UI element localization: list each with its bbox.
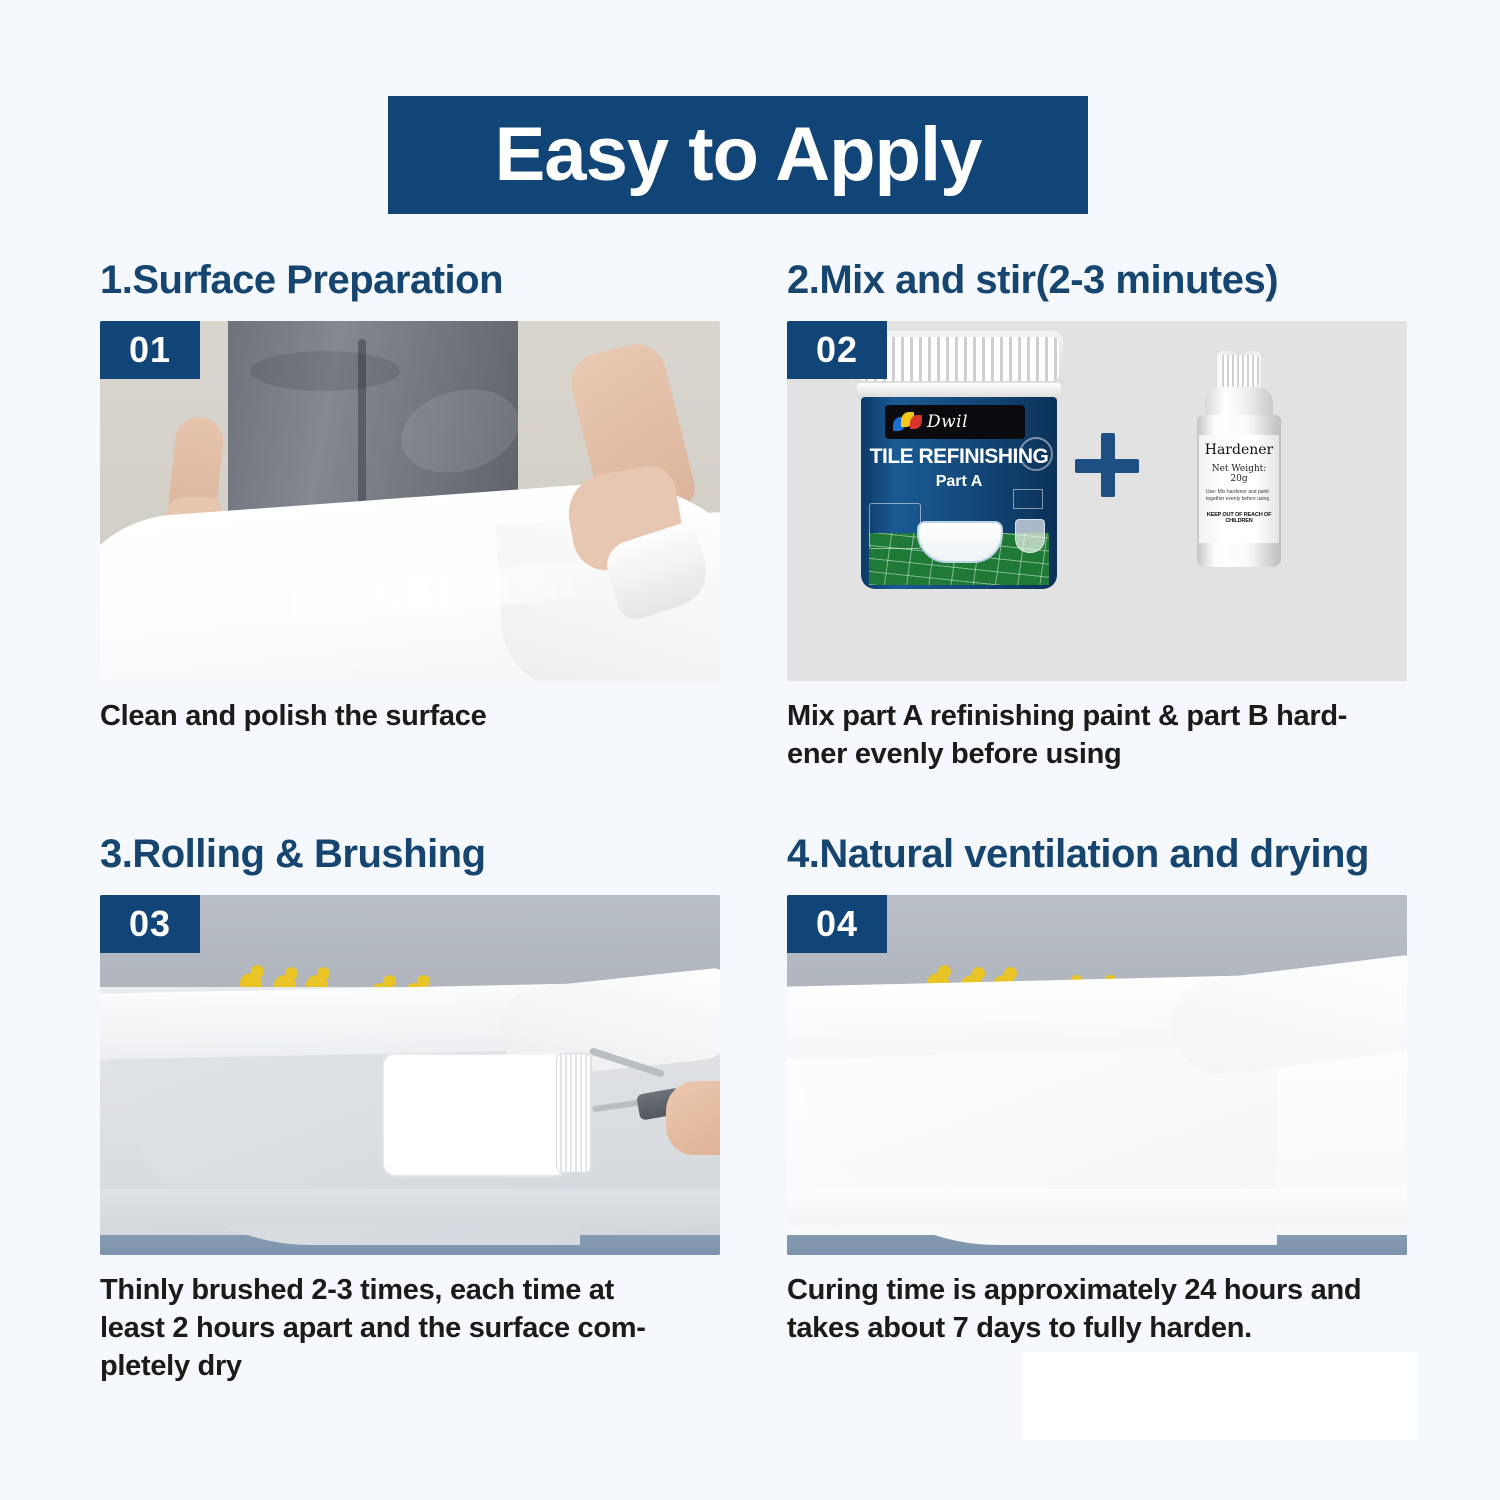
step-badge-1: 01 [100, 321, 200, 379]
caption-line: least 2 hours apart and the surface com- [100, 1309, 700, 1347]
step-card-1: 1.Surface Preparation 01 [100, 258, 755, 774]
step-card-3: 3.Rolling & Brushing [100, 832, 755, 1386]
fabric-crease-shape [250, 351, 400, 391]
page-title: Easy to Apply [495, 117, 982, 193]
step-caption-3: Thinly brushed 2-3 times, each time at l… [100, 1271, 700, 1386]
step-heading-4: 4.Natural ventilation and drying [787, 832, 1442, 877]
step-photo-3: 03 [100, 895, 720, 1255]
hand-shape [666, 1081, 720, 1155]
steps-row-1: 1.Surface Preparation 01 [0, 258, 1500, 774]
hardener-bottle: Hardener Net Weight: 20g Use: Mix harden… [1179, 351, 1299, 571]
jar-product-part: Part A [861, 473, 1057, 491]
jar-body-shape: Dwil TILE REFINISHING Part A [861, 397, 1057, 589]
caption-line: Curing time is approximately 24 hours an… [787, 1271, 1387, 1309]
bottle-label: Hardener Net Weight: 20g Use: Mix harden… [1199, 435, 1279, 543]
step-card-4: 4.Natural ventilation and drying 04 [787, 832, 1442, 1386]
step-photo-2: Dwil TILE REFINISHING Part A [787, 321, 1407, 681]
step-photo-4: 04 [787, 895, 1407, 1255]
jar-toilet-illustration [1015, 519, 1045, 553]
step-heading-2: 2.Mix and stir(2-3 minutes) [787, 258, 1442, 303]
bottle-label-weight: Net Weight: 20g [1204, 464, 1274, 484]
paint-roller-shape [556, 1053, 592, 1173]
title-banner: Easy to Apply [388, 96, 1088, 214]
step-badge-4: 04 [787, 895, 887, 953]
bathtub-skirt-shape [787, 1189, 1407, 1225]
step-caption-4: Curing time is approximately 24 hours an… [787, 1271, 1387, 1348]
blank-white-block [1022, 1352, 1418, 1440]
jar-vanity-illustration [869, 503, 921, 549]
caption-line: ener evenly before using [787, 735, 1387, 773]
caption-line: Mix part A refinishing paint & part B ha… [787, 697, 1387, 735]
caption-line: pletely dry [100, 1347, 700, 1385]
caption-line: Clean and polish the surface [100, 697, 700, 735]
jar-lid-ribs-shape [859, 337, 1059, 381]
steps-row-2: 3.Rolling & Brushing [0, 832, 1500, 1386]
step-photo-1: 01 [100, 321, 720, 681]
brand-name: Dwil [927, 412, 968, 432]
bottle-label-warning: KEEP OUT OF REACH OF CHILDREN [1204, 512, 1274, 524]
steps-grid: 1.Surface Preparation 01 [0, 258, 1500, 1385]
infographic-page: Easy to Apply 1.Surface Preparation [0, 0, 1500, 1500]
caption-line: takes about 7 days to fully harden. [787, 1309, 1387, 1347]
step-heading-1: 1.Surface Preparation [100, 258, 755, 303]
brand-logo: Dwil [885, 405, 1025, 439]
bottle-label-title: Hardener [1204, 443, 1274, 458]
bottle-label-note: Use: Mix hardener and paint together eve… [1204, 489, 1274, 503]
step-badge-3: 03 [100, 895, 200, 953]
bottle-cap-ribs-shape [1219, 355, 1259, 387]
step-badge-2: 02 [787, 321, 887, 379]
bathtub-skirt-shape [100, 1189, 720, 1225]
step-caption-1: Clean and polish the surface [100, 697, 700, 735]
jar-product-title: TILE REFINISHING [861, 445, 1057, 469]
plus-icon [1075, 433, 1139, 497]
step-caption-2: Mix part A refinishing paint & part B ha… [787, 697, 1387, 774]
jar-bathtub-illustration [917, 521, 1003, 563]
fresh-paint-patch [384, 1055, 564, 1175]
leaf-logo-icon [893, 411, 923, 433]
step-card-2: 2.Mix and stir(2-3 minutes) [787, 258, 1442, 774]
jar-mirror-illustration [1013, 489, 1043, 509]
step-heading-3: 3.Rolling & Brushing [100, 832, 755, 877]
caption-line: Thinly brushed 2-3 times, each time at [100, 1271, 700, 1309]
